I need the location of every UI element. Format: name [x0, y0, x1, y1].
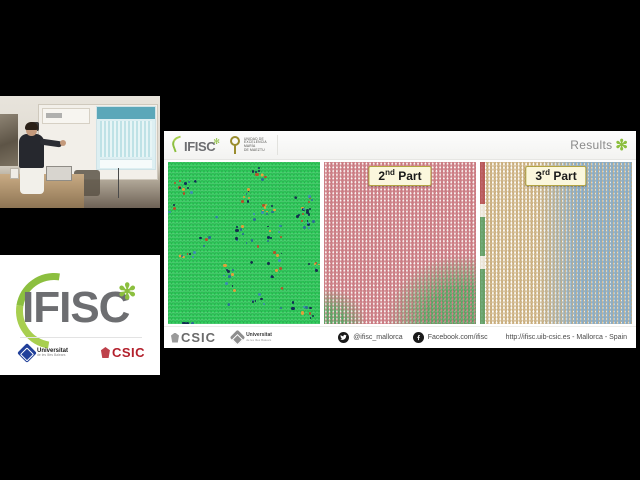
- defect-particle: [232, 269, 234, 271]
- defect-particle: [189, 253, 191, 255]
- defect-particle: [174, 182, 176, 184]
- defect-particle: [303, 226, 306, 229]
- facebook-handle[interactable]: Facebook.com/ifisc: [413, 332, 488, 343]
- defect-particle: [309, 312, 312, 315]
- defect-particle: [271, 205, 274, 208]
- panel-3-label: 3rd Part: [525, 166, 586, 186]
- panel-3-label-prefix: 3: [535, 169, 542, 183]
- defect-particle: [280, 236, 282, 238]
- cup: [10, 168, 19, 179]
- defect-particle: [235, 237, 238, 240]
- excellence-line-4: DE MAEZTU: [244, 149, 267, 153]
- defect-particle: [205, 238, 208, 241]
- simulation-panel-1[interactable]: [168, 162, 320, 324]
- defect-particle: [267, 236, 269, 238]
- projected-slide-header: [97, 107, 155, 119]
- uib-subtitle: de les Illes Balears: [246, 339, 272, 342]
- green-domain-left: [324, 288, 364, 324]
- defect-particle: [260, 298, 262, 300]
- presenter-webcam[interactable]: [0, 96, 160, 208]
- defect-particle: [208, 236, 211, 239]
- simulation-panel-3[interactable]: 3rd Part: [480, 162, 632, 324]
- defect-particle: [203, 245, 205, 247]
- title-asterisk-icon: ✻: [615, 138, 628, 153]
- defect-particle: [251, 239, 254, 242]
- defect-particle: [276, 254, 278, 256]
- defect-particle: [232, 285, 234, 287]
- defect-particle: [258, 293, 261, 296]
- defect-particle: [187, 187, 189, 189]
- defect-particle: [183, 192, 186, 195]
- defect-particle: [253, 218, 256, 221]
- projected-slide: [96, 106, 156, 170]
- defect-particle: [191, 322, 193, 324]
- defect-particle: [281, 253, 283, 255]
- ifisc-asterisk-icon: ✻: [118, 281, 136, 303]
- slide-title: Results: [570, 138, 612, 152]
- uib-subtitle: de les Illes Balears: [37, 354, 68, 358]
- uib-diamond-icon: [17, 343, 37, 363]
- laptop: [46, 166, 72, 181]
- uib-diamond-icon: [230, 330, 246, 346]
- defect-particle: [253, 213, 255, 215]
- defect-particle: [298, 214, 300, 216]
- defect-particle: [308, 195, 311, 198]
- defect-particle: [187, 253, 189, 255]
- defect-particle: [301, 220, 303, 222]
- cable: [118, 168, 119, 198]
- green-domain-right: [388, 249, 476, 324]
- defect-particle: [193, 251, 196, 254]
- defect-particle: [308, 227, 310, 229]
- defect-particle: [275, 269, 277, 271]
- panel-3-left-edge-strip: [480, 162, 485, 324]
- video-stage: IFISC ✻ Universitat de les Illes Balears…: [0, 0, 640, 480]
- defect-particle: [311, 199, 313, 201]
- defect-particle: [235, 229, 238, 232]
- defect-particle: [246, 193, 248, 195]
- defect-particle: [273, 251, 276, 254]
- facebook-icon: [413, 332, 424, 343]
- uib-logo: Universitat de les Illes Balears: [20, 346, 68, 360]
- twitter-handle-text: @ifisc_mallorca: [353, 334, 403, 341]
- defect-particle: [278, 259, 281, 262]
- defect-particle: [270, 237, 272, 239]
- defect-particle: [267, 240, 269, 242]
- facebook-handle-text: Facebook.com/ifisc: [428, 334, 488, 341]
- whiteboard-slide-logo: [42, 108, 90, 124]
- defect-particle: [278, 231, 280, 233]
- brand-card-divider: [20, 337, 142, 338]
- defect-particle: [173, 204, 175, 206]
- twitter-handle[interactable]: @ifisc_mallorca: [338, 332, 403, 343]
- defect-particle: [310, 317, 312, 319]
- ifisc-brand-card: IFISC ✻ Universitat de les Illes Balears…: [0, 255, 160, 375]
- wall-artwork: [0, 114, 18, 166]
- csic-wordmark: CSIC: [112, 345, 145, 360]
- defect-particle: [271, 276, 273, 278]
- panel-2-label-sup: nd: [385, 168, 395, 177]
- defect-particle: [305, 306, 308, 309]
- defect-particle: [266, 213, 268, 215]
- defect-particle: [264, 176, 266, 178]
- defect-particle: [231, 273, 234, 276]
- defect-particle: [267, 262, 270, 265]
- presenter-hair: [25, 122, 38, 130]
- csic-mark-icon: [101, 347, 110, 358]
- defect-particle: [243, 196, 245, 198]
- defect-particle: [228, 275, 231, 278]
- defect-particle: [246, 242, 248, 244]
- header-divider: [277, 135, 278, 155]
- defect-particle: [312, 315, 314, 317]
- defect-particle: [190, 191, 193, 194]
- defect-particle: [309, 307, 311, 309]
- slide-ifisc-logo: IFISC ✻: [172, 137, 220, 154]
- simulation-panel-2[interactable]: 2nd Part: [324, 162, 476, 324]
- defect-particle: [247, 188, 250, 191]
- twitter-icon: [338, 332, 349, 343]
- defect-particle: [318, 264, 320, 266]
- panel-2-label-text: Part: [398, 169, 421, 183]
- defect-particle: [252, 170, 254, 172]
- defect-particle: [242, 233, 244, 235]
- defect-particle: [309, 208, 311, 210]
- defect-particle: [240, 228, 243, 231]
- slide-footer: CSIC Universitat de les Illes Balears @i…: [164, 326, 636, 348]
- panel-2-label: 2nd Part: [368, 166, 431, 186]
- defect-particle: [303, 208, 305, 210]
- key-icon: [230, 136, 241, 154]
- presenter-hand: [60, 140, 66, 146]
- footer-csic-logo: CSIC: [171, 330, 216, 345]
- defect-particle: [241, 200, 244, 203]
- defect-particle: [301, 311, 304, 314]
- blue-domain-right: [538, 162, 632, 324]
- defect-particle: [188, 181, 190, 183]
- panel-3-label-text: Part: [553, 169, 576, 183]
- defect-particle: [199, 237, 202, 240]
- csic-mark-icon: [171, 333, 179, 343]
- defect-particle: [261, 211, 264, 214]
- csic-logo: CSIC: [101, 345, 145, 360]
- ifisc-swoosh-icon: [170, 135, 185, 152]
- defect-particle: [269, 230, 271, 232]
- panel-3-label-sup: rd: [542, 168, 550, 177]
- defect-particle: [264, 206, 266, 208]
- presentation-slide[interactable]: IFISC ✻ UNIDAD DE EXCELENCIA MARÍA DE MA…: [164, 131, 636, 348]
- defect-particle: [223, 275, 225, 277]
- presenter-legs: [20, 166, 44, 194]
- ifisc-wordmark: IFISC: [22, 283, 129, 333]
- defect-particle: [225, 282, 227, 284]
- defect-particle: [302, 213, 304, 215]
- defect-particle: [291, 307, 294, 310]
- defect-particle: [255, 173, 258, 176]
- defect-particle: [267, 226, 269, 228]
- defect-particle: [173, 207, 176, 210]
- defect-particle: [261, 178, 264, 181]
- defect-particle: [179, 180, 181, 182]
- defect-particle: [292, 301, 294, 303]
- footer-uib-logo: Universitat de les Illes Balears: [232, 332, 272, 343]
- defect-particle: [255, 300, 257, 302]
- defect-particle: [247, 200, 250, 203]
- defect-particle: [280, 307, 282, 309]
- footer-url[interactable]: http://ifisc.uib-csic.es - Mallorca - Sp…: [506, 334, 627, 341]
- defect-particle: [315, 269, 318, 272]
- defect-particle: [314, 263, 316, 265]
- defect-particle: [307, 220, 309, 222]
- defect-particle: [271, 211, 273, 213]
- defect-particle: [186, 322, 189, 324]
- defect-particle: [263, 303, 265, 305]
- ifisc-wordmark: IFISC: [184, 139, 215, 154]
- defect-particle: [279, 267, 282, 270]
- defect-particle: [179, 187, 181, 189]
- slide-header: IFISC ✻ UNIDAD DE EXCELENCIA MARÍA DE MA…: [164, 131, 636, 160]
- csic-wordmark: CSIC: [181, 330, 216, 345]
- maria-de-maeztu-logo: UNIDAD DE EXCELENCIA MARÍA DE MAEZTU: [230, 136, 267, 154]
- projected-slide-body: [100, 121, 152, 157]
- defect-particle: [258, 170, 260, 172]
- defect-particle: [308, 201, 310, 203]
- slide-body: 2nd Part 3rd Part: [164, 160, 636, 326]
- defect-particle: [308, 263, 310, 265]
- defect-particle: [182, 188, 185, 191]
- defect-particle: [223, 264, 226, 267]
- projected-slide-footer: [100, 159, 152, 168]
- defect-particle: [312, 220, 315, 223]
- defect-particle: [257, 245, 259, 247]
- defect-particle: [184, 182, 187, 185]
- defect-particle: [168, 211, 171, 214]
- defect-particle: [306, 211, 309, 214]
- defect-particle: [192, 256, 194, 258]
- defect-particle: [236, 226, 238, 228]
- defect-particle: [233, 289, 236, 292]
- ifisc-asterisk-icon: ✻: [213, 137, 220, 146]
- defect-particle: [248, 197, 250, 199]
- panel-2-label-prefix: 2: [378, 169, 385, 183]
